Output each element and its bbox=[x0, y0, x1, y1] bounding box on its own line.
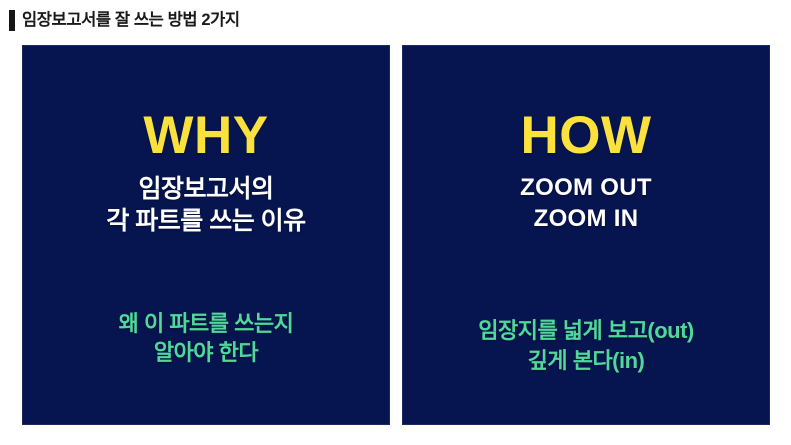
title-accent-bar bbox=[9, 10, 15, 31]
panel-why-subtitle-line-1: 임장보고서의 bbox=[106, 173, 305, 205]
panel-how-subtitle-line-2: ZOOM IN bbox=[520, 204, 652, 235]
panel-how-note-line-2: 깊게 본다(in) bbox=[403, 346, 769, 375]
panel-why-headline: WHY bbox=[143, 109, 268, 162]
panel-why-subtitle-line-2: 각 파트를 쓰는 이유 bbox=[106, 205, 305, 237]
panel-why-content: WHY 임장보고서의 각 파트를 쓰는 이유 왜 이 파트를 쓰는지 알아야 한… bbox=[23, 46, 389, 424]
panel-how-subtitle: ZOOM OUT ZOOM IN bbox=[520, 173, 652, 234]
panel-how-note-line-1: 임장지를 넓게 보고(out) bbox=[403, 316, 769, 345]
panel-why: WHY 임장보고서의 각 파트를 쓰는 이유 왜 이 파트를 쓰는지 알아야 한… bbox=[22, 45, 390, 425]
slide-title-row: 임장보고서를 잘 쓰는 방법 2가지 bbox=[0, 0, 791, 40]
panel-group: WHY 임장보고서의 각 파트를 쓰는 이유 왜 이 파트를 쓰는지 알아야 한… bbox=[22, 45, 770, 425]
panel-how: HOW ZOOM OUT ZOOM IN 임장지를 넓게 보고(out) 깊게 … bbox=[402, 45, 770, 425]
panel-why-note: 왜 이 파트를 쓰는지 알아야 한다 bbox=[23, 309, 389, 368]
panel-how-subtitle-line-1: ZOOM OUT bbox=[520, 173, 652, 204]
panel-why-note-line-1: 왜 이 파트를 쓰는지 bbox=[23, 309, 389, 338]
slide-canvas: 임장보고서를 잘 쓰는 방법 2가지 WHY 임장보고서의 각 파트를 쓰는 이… bbox=[0, 0, 791, 445]
panel-why-note-line-2: 알아야 한다 bbox=[23, 338, 389, 367]
panel-why-subtitle: 임장보고서의 각 파트를 쓰는 이유 bbox=[106, 173, 305, 237]
panel-how-note: 임장지를 넓게 보고(out) 깊게 본다(in) bbox=[403, 316, 769, 375]
panel-how-headline: HOW bbox=[520, 109, 651, 162]
panel-how-content: HOW ZOOM OUT ZOOM IN 임장지를 넓게 보고(out) 깊게 … bbox=[403, 46, 769, 424]
page-title: 임장보고서를 잘 쓰는 방법 2가지 bbox=[22, 12, 240, 29]
